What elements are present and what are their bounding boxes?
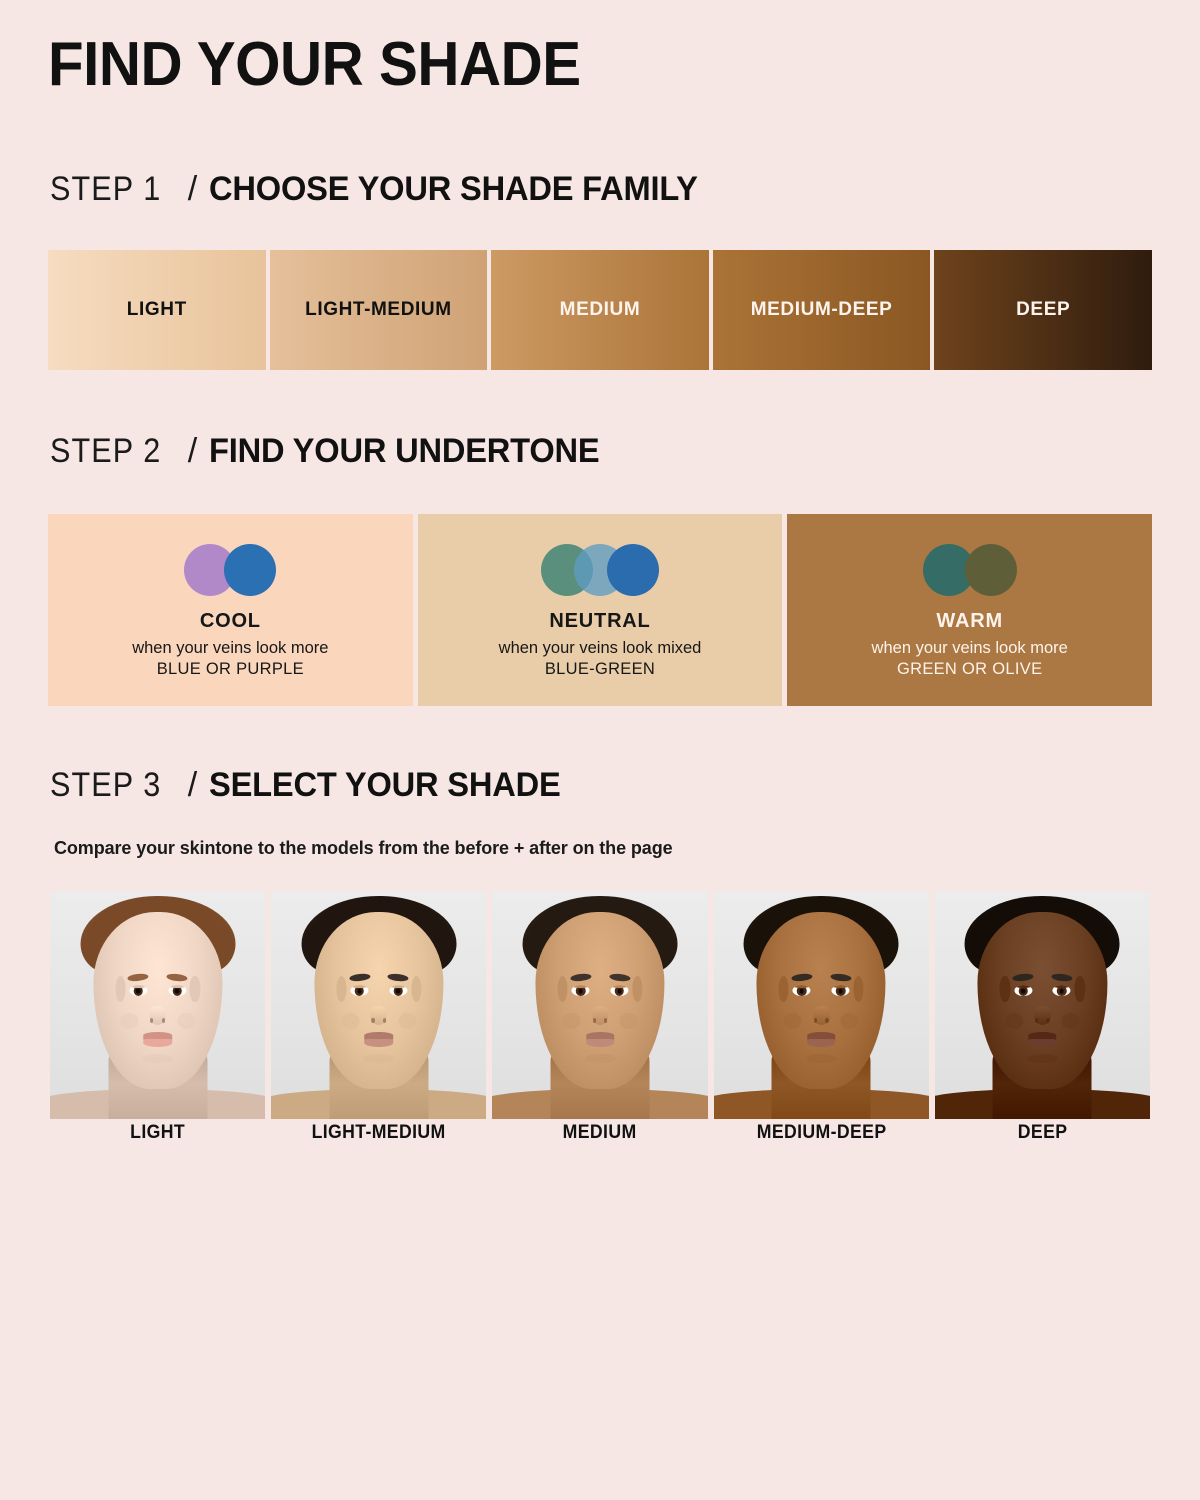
blue-vein-circle xyxy=(224,544,276,596)
head xyxy=(757,912,886,1090)
lips xyxy=(1028,1032,1056,1047)
shade-swatch-label: LIGHT xyxy=(127,299,187,321)
step-3-title: SELECT YOUR SHADE xyxy=(209,766,561,805)
model-photo-label: DEEP xyxy=(942,1122,1142,1144)
chin-shadow xyxy=(363,1054,394,1063)
cheek-left xyxy=(563,1013,581,1029)
shade-swatch-label: DEEP xyxy=(1016,299,1070,321)
eye-left xyxy=(793,985,811,996)
shade-swatch-light-medium[interactable]: LIGHT-MEDIUM xyxy=(266,250,488,370)
lips xyxy=(365,1032,393,1047)
model-photo-label: LIGHT xyxy=(58,1122,258,1144)
cheek-right xyxy=(177,1013,195,1029)
cheek-right xyxy=(841,1013,859,1029)
undertone-description-line-1: when your veins look mixed xyxy=(499,638,702,659)
shade-swatch-label: MEDIUM xyxy=(560,299,641,321)
model-photo-deep[interactable] xyxy=(935,891,1150,1119)
step-3-separator: / xyxy=(188,766,197,805)
ear-right xyxy=(190,976,200,1003)
head xyxy=(93,912,222,1090)
eye-right xyxy=(610,985,628,996)
head xyxy=(314,912,443,1090)
lips xyxy=(586,1032,614,1047)
eyebrow-left xyxy=(128,973,149,982)
step-1-title: CHOOSE YOUR SHADE FAMILY xyxy=(209,170,698,209)
ear-left xyxy=(336,976,346,1003)
nose xyxy=(592,1006,609,1026)
cheek-right xyxy=(398,1013,416,1029)
ear-left xyxy=(779,976,789,1003)
eye-right xyxy=(832,985,850,996)
eye-right xyxy=(168,985,186,996)
model-face xyxy=(492,891,707,1119)
chin-shadow xyxy=(142,1054,173,1063)
undertone-name: WARM xyxy=(936,610,1003,632)
step-3-subtitle: Compare your skintone to the models from… xyxy=(54,838,673,859)
undertone-panel-row[interactable]: COOLwhen your veins look moreBLUE OR PUR… xyxy=(48,514,1152,706)
cheek-left xyxy=(120,1013,138,1029)
model-photo-label: MEDIUM-DEEP xyxy=(721,1122,921,1144)
undertone-description-line-2: BLUE OR PURPLE xyxy=(157,659,304,680)
eye-left xyxy=(1014,985,1032,996)
model-photo-light[interactable] xyxy=(50,891,265,1119)
undertone-description-line-1: when your veins look more xyxy=(872,638,1068,659)
shade-swatch-label: MEDIUM-DEEP xyxy=(751,299,893,321)
chin-shadow xyxy=(806,1054,837,1063)
eyebrow-right xyxy=(388,973,409,982)
eyebrow-right xyxy=(609,973,630,982)
step-1-heading: STEP 1 / CHOOSE YOUR SHADE FAMILY xyxy=(50,170,718,209)
shade-family-swatch-bar[interactable]: LIGHTLIGHT-MEDIUMMEDIUMMEDIUM-DEEPDEEP xyxy=(48,250,1152,370)
shade-swatch-light[interactable]: LIGHT xyxy=(48,250,266,370)
chin-shadow xyxy=(1027,1054,1058,1063)
model-face xyxy=(935,891,1150,1119)
model-photo-medium[interactable] xyxy=(492,891,707,1119)
nose xyxy=(813,1006,830,1026)
nose xyxy=(149,1006,166,1026)
shade-swatch-label: LIGHT-MEDIUM xyxy=(305,299,452,321)
undertone-description-line-2: BLUE-GREEN xyxy=(545,659,655,680)
eye-right xyxy=(389,985,407,996)
undertone-name: COOL xyxy=(200,610,261,632)
step-3-number: STEP 3 xyxy=(50,766,161,805)
vein-color-circles xyxy=(184,544,276,596)
ear-right xyxy=(632,976,642,1003)
eye-left xyxy=(129,985,147,996)
step-3-heading: STEP 3 / SELECT YOUR SHADE xyxy=(50,766,575,805)
nose xyxy=(1034,1006,1051,1026)
step-1-separator: / xyxy=(188,170,197,209)
eyebrow-right xyxy=(166,973,187,982)
ear-right xyxy=(411,976,421,1003)
step-2-heading: STEP 2 / FIND YOUR UNDERTONE xyxy=(50,432,616,471)
model-face xyxy=(50,891,265,1119)
ear-left xyxy=(557,976,567,1003)
undertone-description-line-1: when your veins look more xyxy=(132,638,328,659)
lips xyxy=(143,1032,171,1047)
undertone-panel-warm[interactable]: WARMwhen your veins look moreGREEN OR OL… xyxy=(782,514,1152,706)
vein-color-circles xyxy=(541,544,659,596)
eyebrow-right xyxy=(830,973,851,982)
lips xyxy=(807,1032,835,1047)
eyebrow-left xyxy=(570,973,591,982)
step-1-number: STEP 1 xyxy=(50,170,161,209)
head xyxy=(535,912,664,1090)
model-photo-label-row: LIGHTLIGHT-MEDIUMMEDIUMMEDIUM-DEEPDEEP xyxy=(50,1122,1150,1144)
model-face xyxy=(714,891,929,1119)
cheek-left xyxy=(341,1013,359,1029)
undertone-name: NEUTRAL xyxy=(549,610,650,632)
ear-right xyxy=(1075,976,1085,1003)
vein-color-circles xyxy=(923,544,1017,596)
model-photo-label: MEDIUM xyxy=(500,1122,700,1144)
eyebrow-left xyxy=(1012,973,1033,982)
ear-left xyxy=(115,976,125,1003)
cheek-right xyxy=(1062,1013,1080,1029)
page-title: FIND YOUR SHADE xyxy=(48,34,581,96)
olive-vein-circle xyxy=(965,544,1017,596)
shade-swatch-medium[interactable]: MEDIUM xyxy=(487,250,709,370)
model-photo-row[interactable] xyxy=(50,891,1150,1119)
eyebrow-right xyxy=(1051,973,1072,982)
cheek-left xyxy=(784,1013,802,1029)
model-photo-light-medium[interactable] xyxy=(271,891,486,1119)
chin-shadow xyxy=(585,1054,616,1063)
eye-left xyxy=(572,985,590,996)
undertone-description-line-2: GREEN OR OLIVE xyxy=(897,659,1042,680)
cheek-left xyxy=(1005,1013,1023,1029)
ear-right xyxy=(853,976,863,1003)
find-your-shade-infographic: FIND YOUR SHADE STEP 1 / CHOOSE YOUR SHA… xyxy=(0,0,1200,1500)
cheek-right xyxy=(619,1013,637,1029)
eye-left xyxy=(350,985,368,996)
step-2-separator: / xyxy=(188,432,197,471)
undertone-panel-neutral[interactable]: NEUTRALwhen your veins look mixedBLUE-GR… xyxy=(413,514,783,706)
nose xyxy=(370,1006,387,1026)
ear-left xyxy=(1000,976,1010,1003)
shade-swatch-deep[interactable]: DEEP xyxy=(930,250,1152,370)
head xyxy=(978,912,1107,1090)
eyebrow-left xyxy=(349,973,370,982)
eyebrow-left xyxy=(791,973,812,982)
model-face xyxy=(271,891,486,1119)
step-2-title: FIND YOUR UNDERTONE xyxy=(209,432,599,471)
undertone-panel-cool[interactable]: COOLwhen your veins look moreBLUE OR PUR… xyxy=(48,514,413,706)
model-photo-medium-deep[interactable] xyxy=(714,891,929,1119)
shade-swatch-medium-deep[interactable]: MEDIUM-DEEP xyxy=(709,250,931,370)
eye-right xyxy=(1053,985,1071,996)
step-2-number: STEP 2 xyxy=(50,432,161,471)
blue-vein-circle xyxy=(607,544,659,596)
model-photo-label: LIGHT-MEDIUM xyxy=(279,1122,479,1144)
